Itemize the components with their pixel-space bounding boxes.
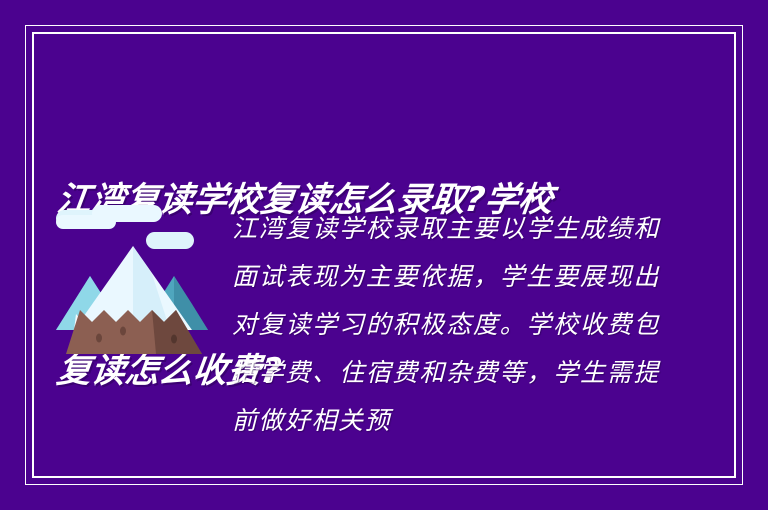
- poster-canvas: 江湾复读学校复读怎么录取?学校 复读怎么收费?: [0, 0, 768, 510]
- body-paragraph: 江湾复读学校录取主要以学生成绩和面试表现为主要依据，学生要展现出对复读学习的积极…: [232, 205, 660, 445]
- mountain-landscape-icon: [52, 202, 228, 378]
- cloud-icon-group: [56, 205, 194, 249]
